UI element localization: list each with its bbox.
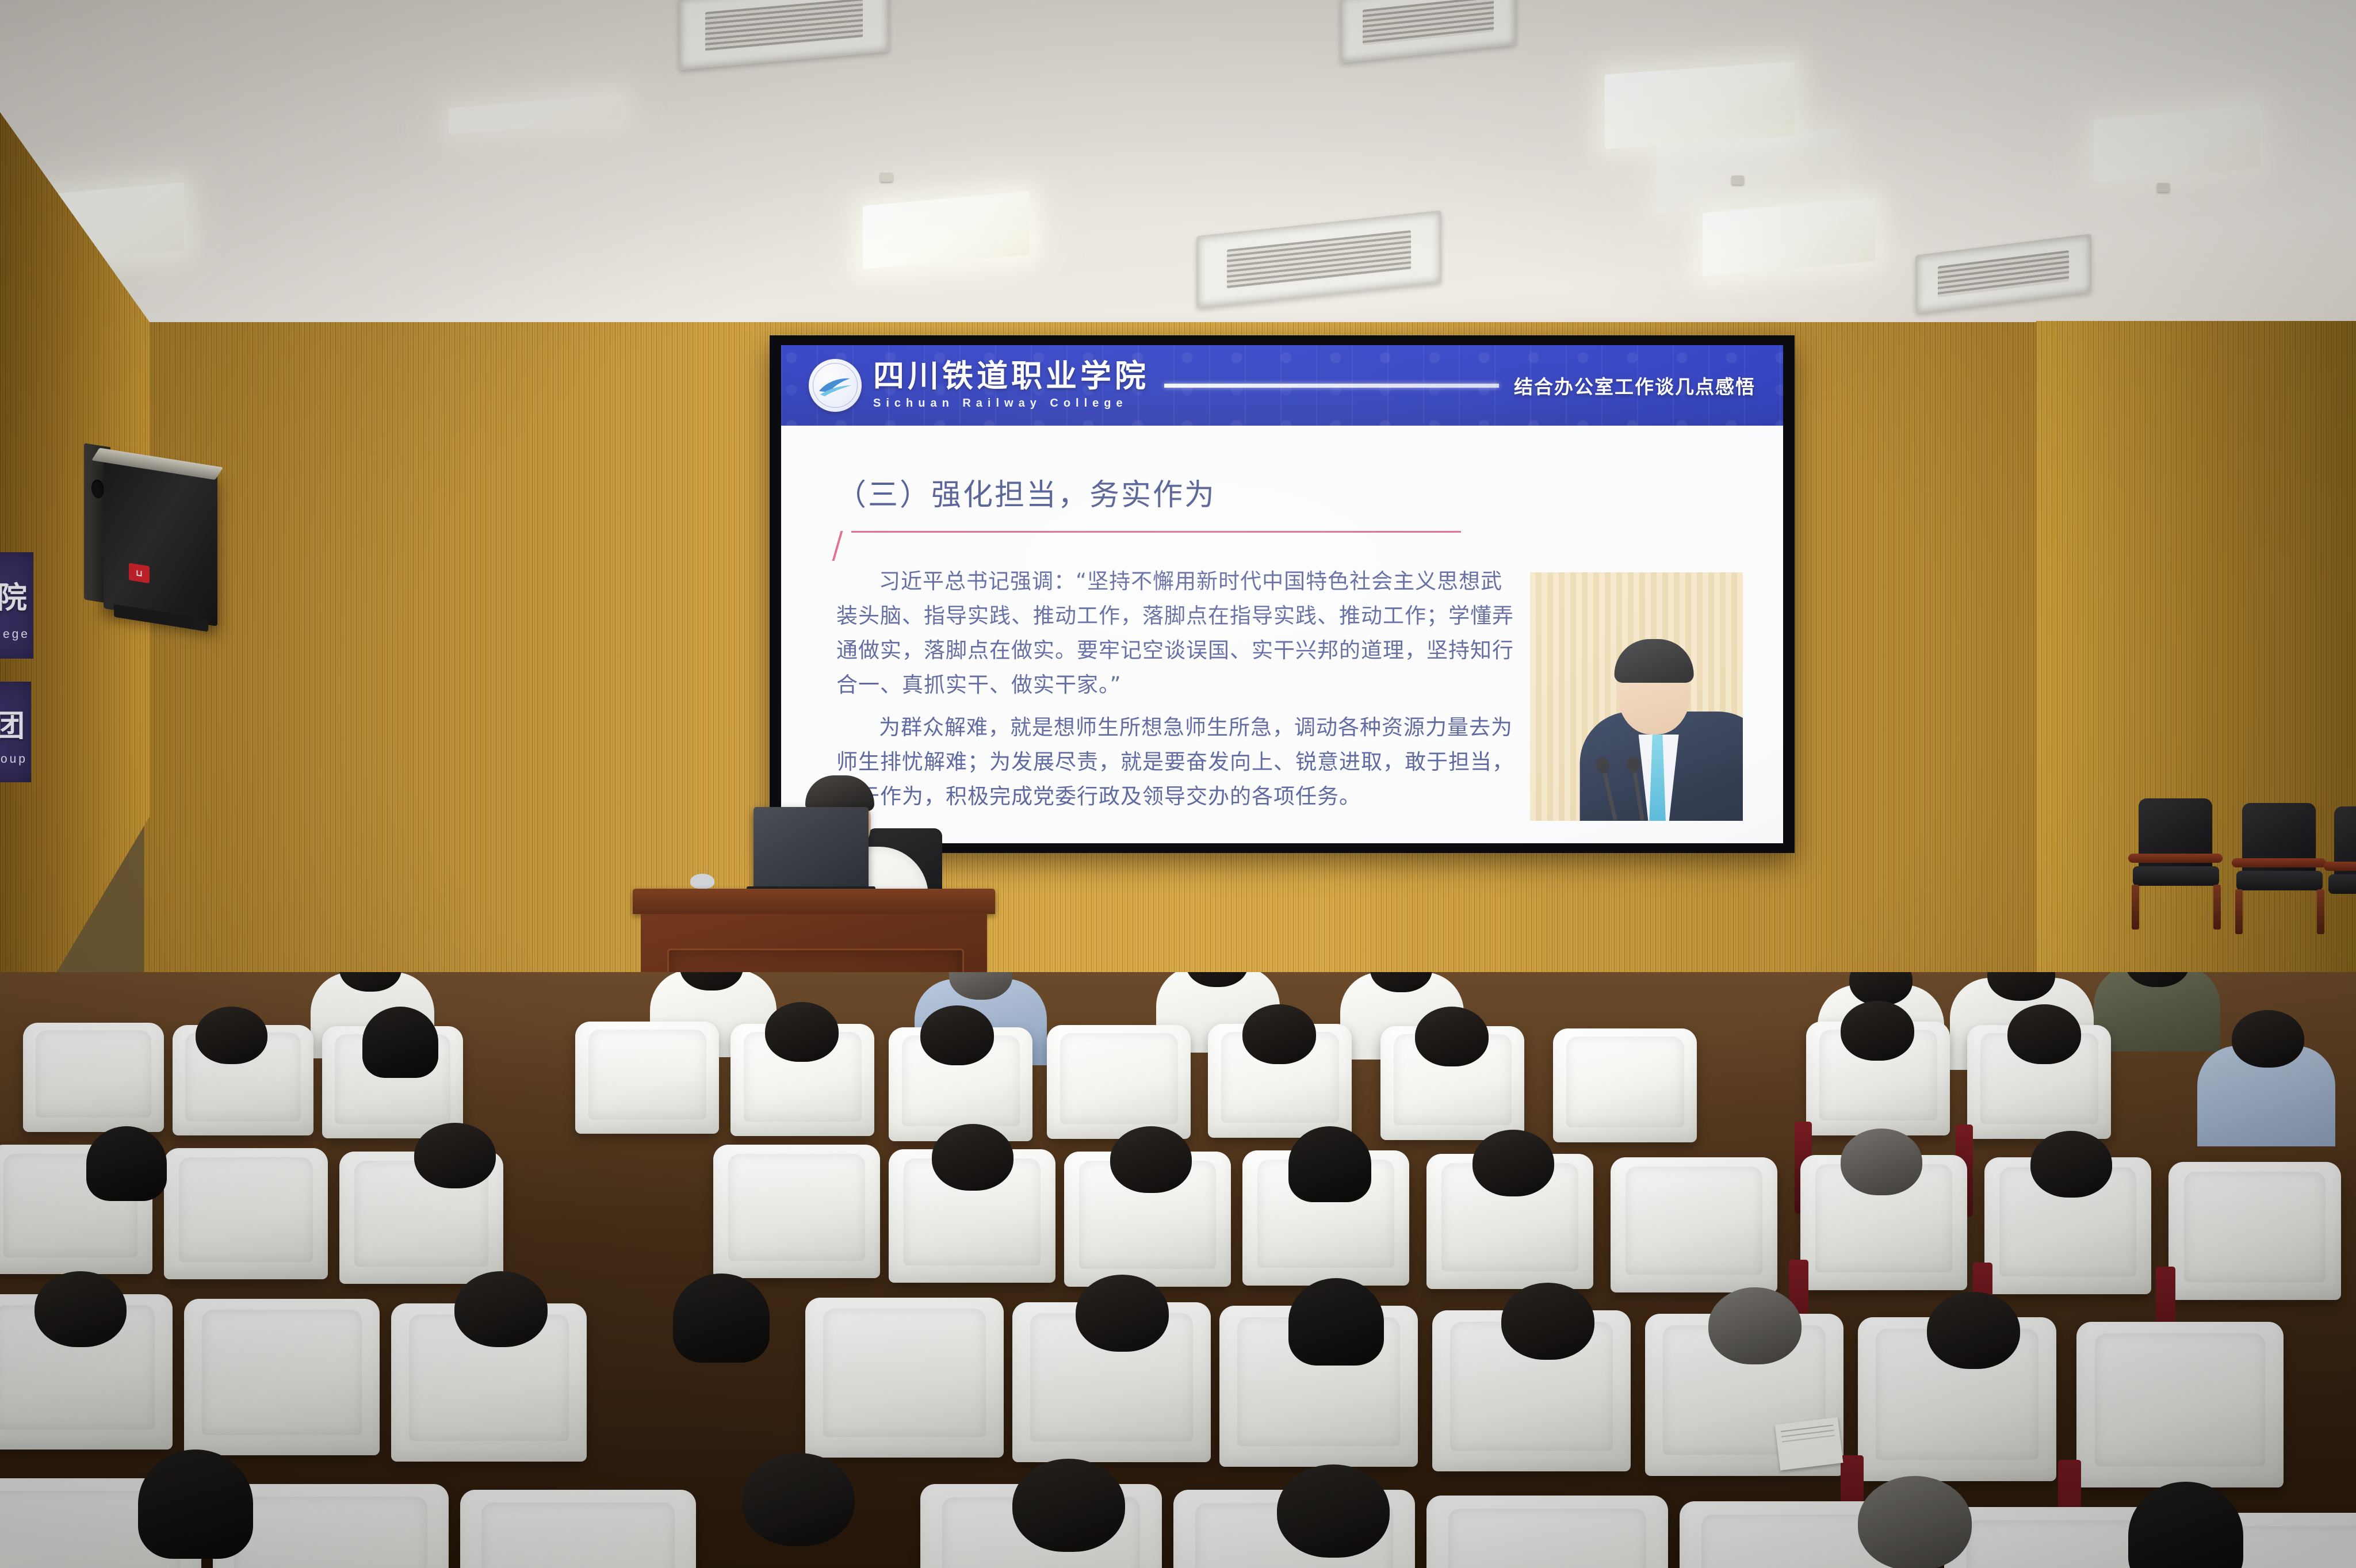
slide-paragraph-1: 习近平总书记强调：“坚持不懈用新时代中国特色社会主义思想武装头脑、指导实践、推动… <box>836 564 1515 702</box>
audience-person-head <box>1012 1459 1125 1552</box>
header-divider-rule <box>1164 384 1499 388</box>
chair-leg <box>2235 889 2243 934</box>
audience-person-head <box>1927 1292 2020 1369</box>
chair-seat <box>2328 874 2356 894</box>
banner-group-en: cation Group <box>0 752 28 766</box>
audience-seat <box>713 1145 880 1278</box>
audience-seat <box>805 1298 1004 1458</box>
audience-person-head <box>138 1450 253 1559</box>
audience-seat <box>2076 1322 2284 1487</box>
chair-leg <box>2132 885 2139 930</box>
audience-person-head <box>2007 1004 2081 1064</box>
ceiling <box>0 0 2356 357</box>
audience-person-head <box>196 1007 267 1064</box>
ac-vent-icon <box>1340 0 1516 63</box>
computer-mouse-icon[interactable] <box>690 874 714 889</box>
audience-person-head <box>1415 1007 1489 1066</box>
slide-body: （三）强化担当，务实作为 习近平总书记强调：“坚持不懈用新时代中国特色社会主义思… <box>781 426 1783 822</box>
banner-group-cn: 育集团 <box>0 702 28 745</box>
audience-seat <box>23 1023 164 1132</box>
slide-text-block: 习近平总书记强调：“坚持不懈用新时代中国特色社会主义思想武装头脑、指导实践、推动… <box>836 564 1515 822</box>
ac-vent-icon <box>1196 211 1441 309</box>
chair-seat <box>2236 871 2323 890</box>
conference-hall-scene: 學院 ollege 育集团 cation Group ⊔ <box>0 0 2356 1568</box>
chair-armrest <box>2232 858 2326 867</box>
audience-person-head <box>454 1271 548 1347</box>
handout-paper <box>1775 1417 1844 1471</box>
photo-person <box>1584 625 1743 821</box>
audience-person-head <box>765 1002 839 1062</box>
chair-seat <box>2133 866 2219 886</box>
slide-speaker-photo <box>1530 572 1743 821</box>
stage-chair <box>2128 798 2226 934</box>
audience-seat <box>1426 1496 1668 1568</box>
audience-person-head <box>932 1124 1013 1191</box>
logo-inner-ring <box>813 363 858 408</box>
audience-person-head <box>1841 1129 1922 1195</box>
audience-person-head <box>2030 1131 2112 1198</box>
presenter-hair <box>805 775 874 811</box>
audience-person-head <box>1277 1464 1390 1558</box>
audience-person-head <box>362 1007 438 1078</box>
speaker-brand-logo-icon: ⊔ <box>129 563 150 584</box>
audience-person-head <box>1076 1275 1169 1352</box>
slide-header-bar: 四川铁道职业学院 Sichuan Railway College 结合办公室工作… <box>781 345 1783 426</box>
train-circle-logo-icon <box>809 359 862 412</box>
ac-vent-icon <box>679 0 889 70</box>
audience-seat <box>460 1490 696 1568</box>
banner-college-cn: 學院 <box>0 573 30 617</box>
wall-banner-college: 學院 ollege <box>0 552 33 659</box>
audience-person-head <box>1472 1130 1554 1196</box>
stage-chair <box>2232 803 2330 938</box>
smoke-detector-icon <box>1731 175 1744 185</box>
audience-person-head <box>35 1271 127 1347</box>
audience-person-head <box>1858 1476 1972 1568</box>
laptop-computer[interactable] <box>754 807 869 889</box>
audience-seat <box>2168 1162 2341 1300</box>
audience-person-head <box>414 1123 496 1188</box>
ac-vent-icon <box>1915 234 2091 314</box>
audience-person-head <box>673 1273 770 1363</box>
ceiling-panel-light <box>449 93 621 135</box>
lectern-top <box>633 889 995 914</box>
slide-brand: 四川铁道职业学院 Sichuan Railway College <box>873 361 1149 410</box>
audience-seat <box>184 1299 380 1455</box>
smoke-detector-icon <box>2157 183 2170 192</box>
slide-title-underline <box>836 531 1743 562</box>
audience-person-head <box>1708 1287 1802 1364</box>
underline-hook <box>832 531 859 561</box>
slide-title: （三）强化担当，务实作为 <box>836 471 1743 514</box>
stage-chair <box>2324 806 2356 942</box>
slide-header-subtitle: 结合办公室工作谈几点感悟 <box>1514 372 1755 399</box>
audience-seat <box>1047 1025 1191 1139</box>
audience-seat <box>164 1148 328 1279</box>
wall-banner-group: 育集团 cation Group <box>0 682 31 782</box>
brand-name-en: Sichuan Railway College <box>873 397 1149 410</box>
audience-person-head <box>1841 1001 1914 1061</box>
audience-person-head <box>1501 1283 1594 1360</box>
audience-seat <box>1611 1157 1777 1292</box>
smoke-detector-icon <box>880 173 893 182</box>
ceiling-panel-light <box>863 191 1030 269</box>
audience-seating-area <box>0 972 2356 1568</box>
audience-person-head <box>1288 1278 1384 1366</box>
photo-person-hair <box>1615 639 1694 683</box>
ceiling-panel-light <box>1703 198 1875 276</box>
speaker-grille <box>104 454 217 626</box>
audience-person-head <box>742 1453 855 1546</box>
audience-person-head <box>1288 1126 1371 1202</box>
audience-seat <box>1553 1028 1697 1142</box>
ceiling-panel-light <box>2094 105 2261 182</box>
audience-person-head <box>1242 1004 1316 1064</box>
audience-person-head <box>86 1126 167 1201</box>
audience-seat <box>575 1022 719 1134</box>
wall-mounted-loudspeaker: ⊔ <box>84 443 228 638</box>
chair-leg <box>2213 885 2221 930</box>
underline-line <box>851 531 1461 533</box>
brand-name-cn: 四川铁道职业学院 <box>873 361 1149 392</box>
chair-armrest <box>2324 862 2356 871</box>
chair-armrest <box>2128 854 2223 863</box>
audience-person-head <box>1110 1126 1192 1193</box>
projection-screen: 四川铁道职业学院 Sichuan Railway College 结合办公室工作… <box>781 345 1783 843</box>
audience-person-head <box>920 1005 994 1065</box>
slide-paragraph-2: 为群众解难，就是想师生所想急师生所急，调动各种资源力量去为师生排忧解难；为发展尽… <box>836 710 1515 814</box>
slide-content: 习近平总书记强调：“坚持不懈用新时代中国特色社会主义思想武装头脑、指导实践、推动… <box>836 564 1743 822</box>
banner-college-en: ollege <box>0 628 30 641</box>
audience-person-head <box>2232 1010 2304 1068</box>
